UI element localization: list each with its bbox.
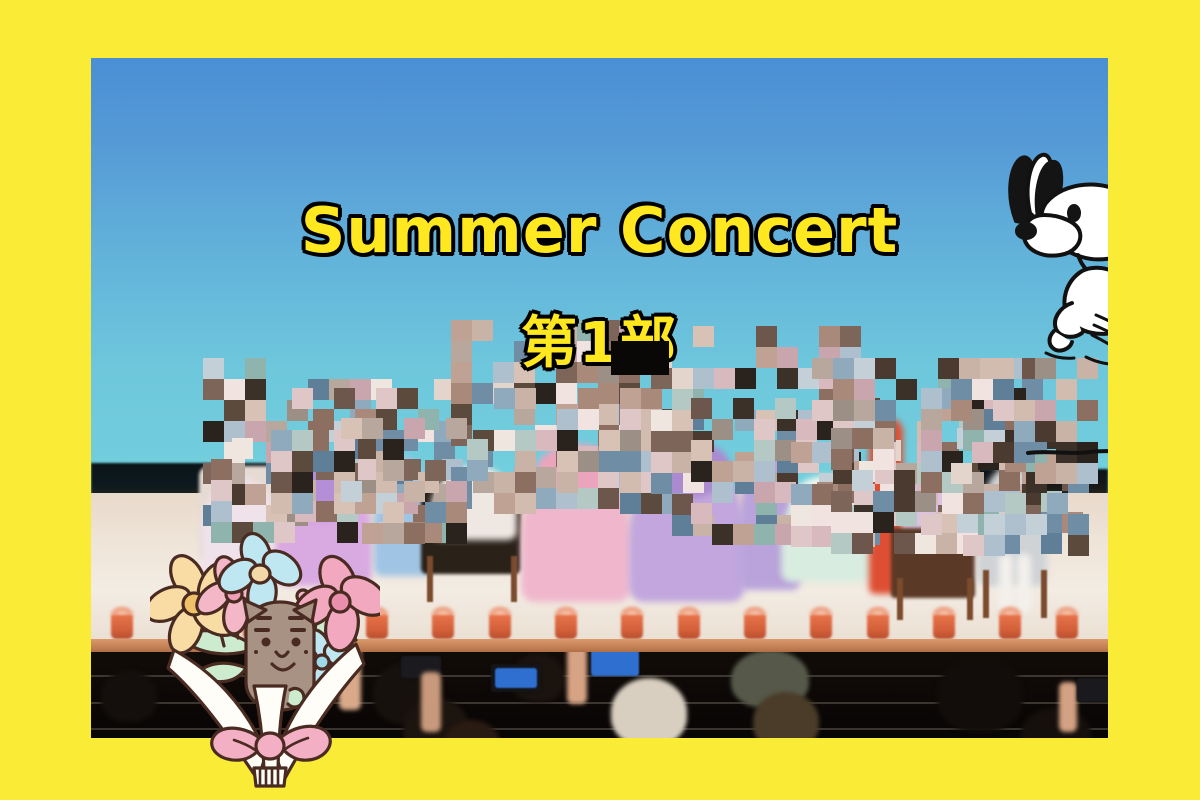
mosaic-block <box>921 472 942 493</box>
mosaic-block <box>1041 533 1062 554</box>
mosaic-block <box>376 388 397 409</box>
mosaic-block <box>852 428 873 449</box>
mosaic-block <box>557 451 578 472</box>
mosaic-block <box>494 493 515 514</box>
mosaic-block <box>203 379 224 400</box>
audience-arm <box>421 672 441 732</box>
flower-pot <box>619 605 645 639</box>
audience-phone-screen <box>495 668 537 688</box>
mosaic-block <box>791 505 812 526</box>
chair-leg <box>1041 570 1047 618</box>
mosaic-block <box>942 493 963 514</box>
mosaic-block <box>224 400 245 421</box>
mosaic-block <box>404 481 425 502</box>
mosaic-block <box>556 383 577 404</box>
mosaic-block <box>1056 421 1077 442</box>
flower-pot <box>931 605 957 639</box>
mosaic-block <box>578 388 599 409</box>
mosaic-block <box>1068 535 1089 556</box>
mosaic-block <box>577 362 598 383</box>
mosaic-block <box>896 379 917 400</box>
mosaic-block <box>921 409 942 430</box>
mosaic-block <box>951 463 972 484</box>
flower-pot <box>487 605 513 639</box>
mosaic-block <box>777 347 798 368</box>
mosaic-block <box>203 358 224 379</box>
mosaic-block <box>620 430 641 451</box>
mosaic-block <box>578 451 599 472</box>
audience-head <box>101 670 157 722</box>
mosaic-block <box>494 388 515 409</box>
mosaic-block <box>651 368 672 389</box>
mosaic-block <box>735 368 756 389</box>
mosaic-block <box>467 460 488 481</box>
mosaic-block <box>446 481 467 502</box>
flower-pot <box>553 605 579 639</box>
mosaic-block <box>641 388 662 409</box>
mosaic-block <box>938 358 959 379</box>
mosaic-block <box>598 320 619 341</box>
mosaic-block <box>984 535 1005 556</box>
mosaic-block <box>951 400 972 421</box>
mosaic-block <box>993 442 1014 463</box>
mosaic-block <box>1035 400 1056 421</box>
mosaic-block <box>775 398 796 419</box>
mosaic-block <box>693 326 714 347</box>
mosaic-block <box>999 470 1020 491</box>
mosaic-block <box>672 452 693 473</box>
mosaic-block <box>599 430 620 451</box>
mosaic-block <box>557 409 578 430</box>
mosaic-block <box>1035 421 1056 442</box>
mosaic-block <box>712 524 733 545</box>
mosaic-block <box>620 451 641 472</box>
snoopy-icon <box>986 143 1108 383</box>
mosaic-block <box>203 421 224 442</box>
mosaic-block <box>334 451 355 472</box>
audience-arm <box>1059 682 1077 732</box>
mosaic-block <box>494 472 515 493</box>
mosaic-block <box>536 430 557 451</box>
mosaic-block <box>341 418 362 439</box>
mosaic-block <box>404 523 425 544</box>
mosaic-block <box>852 470 873 491</box>
mosaic-block <box>446 523 467 544</box>
mosaic-block <box>921 451 942 472</box>
mosaic-block <box>515 472 536 493</box>
flower-pot <box>1054 605 1080 639</box>
chair-leg <box>897 578 903 620</box>
mosaic-block <box>951 379 972 400</box>
mosaic-block <box>211 459 232 480</box>
mosaic-block <box>854 358 875 379</box>
mosaic-block <box>556 320 577 341</box>
chair-leg <box>983 570 989 618</box>
mosaic-block <box>1014 400 1035 421</box>
mosaic-block <box>383 523 404 544</box>
mosaic-block <box>812 526 833 547</box>
audience-head <box>1021 708 1091 738</box>
mosaic-block <box>791 526 812 547</box>
flower-pot <box>676 605 702 639</box>
flower-pot <box>997 605 1023 639</box>
mosaic-block <box>515 493 536 514</box>
mosaic-block <box>446 418 467 439</box>
mosaic-block <box>245 484 266 505</box>
mosaic-block <box>620 409 641 430</box>
mosaic-block <box>271 430 292 451</box>
mosaic-block <box>733 398 754 419</box>
mosaic-block <box>672 389 693 410</box>
mosaic-block <box>691 461 712 482</box>
mosaic-block <box>620 388 641 409</box>
mosaic-block <box>1005 493 1026 514</box>
mosaic-block <box>796 419 817 440</box>
snoopy-ground-line-icon <box>1026 443 1108 450</box>
mosaic-block <box>712 482 733 503</box>
mosaic-block <box>984 514 1005 535</box>
mosaic-block <box>833 400 854 421</box>
audience-cap <box>611 678 687 738</box>
mosaic-block <box>812 505 833 526</box>
mosaic-block <box>1068 514 1089 535</box>
mosaic-block <box>691 440 712 461</box>
mosaic-block <box>754 419 775 440</box>
mosaic-block <box>467 439 488 460</box>
mosaic-block <box>535 383 556 404</box>
mosaic-block <box>641 493 662 514</box>
mosaic-block <box>1014 421 1035 442</box>
mosaic-block <box>494 430 515 451</box>
audience-phone-screen <box>591 652 639 676</box>
audience-head <box>753 692 819 738</box>
mosaic-block <box>963 493 984 514</box>
flower-pot <box>430 605 456 639</box>
mosaic-block <box>211 480 232 501</box>
mosaic-block <box>651 326 672 347</box>
mosaic-block <box>921 388 942 409</box>
mosaic-block <box>598 404 619 425</box>
mosaic-block <box>873 491 894 512</box>
performer-leg <box>1017 554 1031 612</box>
flower-pot <box>742 605 768 639</box>
mosaic-block <box>921 430 942 451</box>
mosaic-block <box>619 362 640 383</box>
mosaic-block <box>1056 463 1077 484</box>
mosaic-block <box>577 488 598 509</box>
mosaic-block <box>446 502 467 523</box>
mosaic-block <box>292 472 313 493</box>
mosaic-block <box>831 428 852 449</box>
mosaic-block <box>577 341 598 362</box>
mosaic-block <box>712 419 733 440</box>
mosaic-block <box>425 460 446 481</box>
mosaic-block <box>714 368 735 389</box>
mosaic-block <box>292 493 313 514</box>
mosaic-block <box>840 326 861 347</box>
mosaic-block <box>271 493 292 514</box>
mosaic-block <box>598 341 619 362</box>
mosaic-block <box>425 502 446 523</box>
mosaic-block <box>894 470 915 491</box>
mosaic-block <box>245 358 266 379</box>
mosaic-block <box>271 451 292 472</box>
mosaic-block <box>1005 514 1026 535</box>
mosaic-block <box>556 341 577 362</box>
mosaic-block <box>791 442 812 463</box>
mosaic-block <box>472 320 493 341</box>
mosaic-block <box>451 362 472 383</box>
mosaic-block <box>451 383 472 404</box>
mosaic-block <box>672 431 693 452</box>
chair-leg <box>511 556 517 602</box>
mosaic-block <box>232 438 253 459</box>
mosaic-block <box>921 514 942 535</box>
mosaic-block <box>754 440 775 461</box>
flower-pot <box>865 605 891 639</box>
mosaic-block <box>598 488 619 509</box>
mosaic-block <box>451 341 472 362</box>
mosaic-block <box>733 524 754 545</box>
mosaic-block <box>831 533 852 554</box>
mosaic-block <box>1026 514 1047 535</box>
mosaic-block <box>493 362 514 383</box>
mosaic-block <box>383 502 404 523</box>
mosaic-block <box>362 418 383 439</box>
mosaic-block <box>873 449 894 470</box>
mosaic-block <box>599 451 620 472</box>
mosaic-block <box>383 460 404 481</box>
mosaic-block <box>854 400 875 421</box>
mosaic-block <box>341 481 362 502</box>
mosaic-block <box>875 400 896 421</box>
mosaic-block <box>754 482 775 503</box>
mosaic-block <box>819 326 840 347</box>
mosaic-block <box>556 362 577 383</box>
mosaic-block <box>557 430 578 451</box>
mosaic-block <box>514 341 535 362</box>
mosaic-block <box>777 368 798 389</box>
mosaic-block <box>957 512 978 533</box>
mosaic-block <box>831 491 852 512</box>
mosaic-block <box>619 320 640 341</box>
performer-leg <box>999 554 1013 612</box>
flower-pot <box>109 605 135 639</box>
mosaic-block <box>404 418 425 439</box>
mosaic-block <box>993 400 1014 421</box>
mosaic-block <box>245 379 266 400</box>
mosaic-block <box>1077 400 1098 421</box>
mosaic-block <box>1077 463 1098 484</box>
mosaic-block <box>754 524 775 545</box>
mosaic-block <box>691 398 712 419</box>
mosaic-block <box>334 388 355 409</box>
mosaic-block <box>672 494 693 515</box>
mosaic-block <box>535 488 556 509</box>
mosaic-block <box>472 383 493 404</box>
mosaic-block <box>292 451 313 472</box>
mosaic-block <box>672 368 693 389</box>
mosaic-block <box>535 467 556 488</box>
mosaic-block <box>515 451 536 472</box>
mosaic-block <box>831 449 852 470</box>
mosaic-block <box>812 358 833 379</box>
mosaic-block <box>812 442 833 463</box>
mosaic-block <box>514 362 535 383</box>
mosaic-block <box>651 452 672 473</box>
mosaic-block <box>292 430 313 451</box>
mosaic-block <box>672 515 693 536</box>
flower-pot <box>808 605 834 639</box>
mosaic-block <box>651 410 672 431</box>
mosaic-block <box>578 409 599 430</box>
mosaic-block <box>397 388 418 409</box>
chair-leg <box>967 578 973 620</box>
mosaic-block <box>1035 463 1056 484</box>
mosaic-block <box>756 326 777 347</box>
mosaic-block <box>754 461 775 482</box>
mosaic-block <box>224 379 245 400</box>
mosaic-block <box>271 472 292 493</box>
mosaic-block <box>894 491 915 512</box>
mosaic-block <box>693 368 714 389</box>
mosaic-block <box>873 512 894 533</box>
mosaic-block <box>959 358 980 379</box>
mosaic-block <box>515 388 536 409</box>
mosaic-block <box>619 341 640 362</box>
audience-phone <box>1077 678 1108 702</box>
audience-head <box>937 656 1023 732</box>
mosaic-block <box>756 347 777 368</box>
mosaic-block <box>313 451 334 472</box>
mosaic-block <box>852 512 873 533</box>
mosaic-block <box>915 533 936 554</box>
mosaic-block <box>963 535 984 556</box>
mosaic-block <box>915 491 936 512</box>
mosaic-block <box>620 493 641 514</box>
pusheen-bouquet-icon <box>150 518 380 788</box>
mosaic-block <box>812 400 833 421</box>
chair-leg <box>427 556 433 602</box>
mosaic-block <box>712 461 733 482</box>
mosaic-block <box>245 400 266 421</box>
mosaic-block <box>557 472 578 493</box>
card-canvas: Summer Concert 第1部 <box>0 0 1200 800</box>
mosaic-block <box>854 379 875 400</box>
mosaic-block <box>831 512 852 533</box>
mosaic-block <box>577 320 598 341</box>
mosaic-block <box>651 431 672 452</box>
mosaic-block <box>672 410 693 431</box>
mosaic-block <box>852 533 873 554</box>
mosaic-block <box>598 362 619 383</box>
mosaic-block <box>936 533 957 554</box>
mosaic-block <box>972 442 993 463</box>
mosaic-block <box>873 428 894 449</box>
mosaic-block <box>651 473 672 494</box>
audience-arm <box>567 652 587 704</box>
mosaic-block <box>875 358 896 379</box>
mosaic-block <box>833 358 854 379</box>
mosaic-block <box>598 383 619 404</box>
mosaic-block <box>733 461 754 482</box>
mosaic-block <box>383 439 404 460</box>
mosaic-block <box>620 472 641 493</box>
mosaic-block <box>515 430 536 451</box>
mosaic-block <box>313 409 334 430</box>
mosaic-block <box>1047 493 1068 514</box>
mosaic-block <box>833 379 854 400</box>
mosaic-block <box>791 484 812 505</box>
mosaic-block <box>894 533 915 554</box>
mosaic-block <box>812 484 833 505</box>
mosaic-block <box>691 503 712 524</box>
mosaic-block <box>451 320 472 341</box>
mosaic-block <box>651 347 672 368</box>
mosaic-block <box>292 388 313 409</box>
